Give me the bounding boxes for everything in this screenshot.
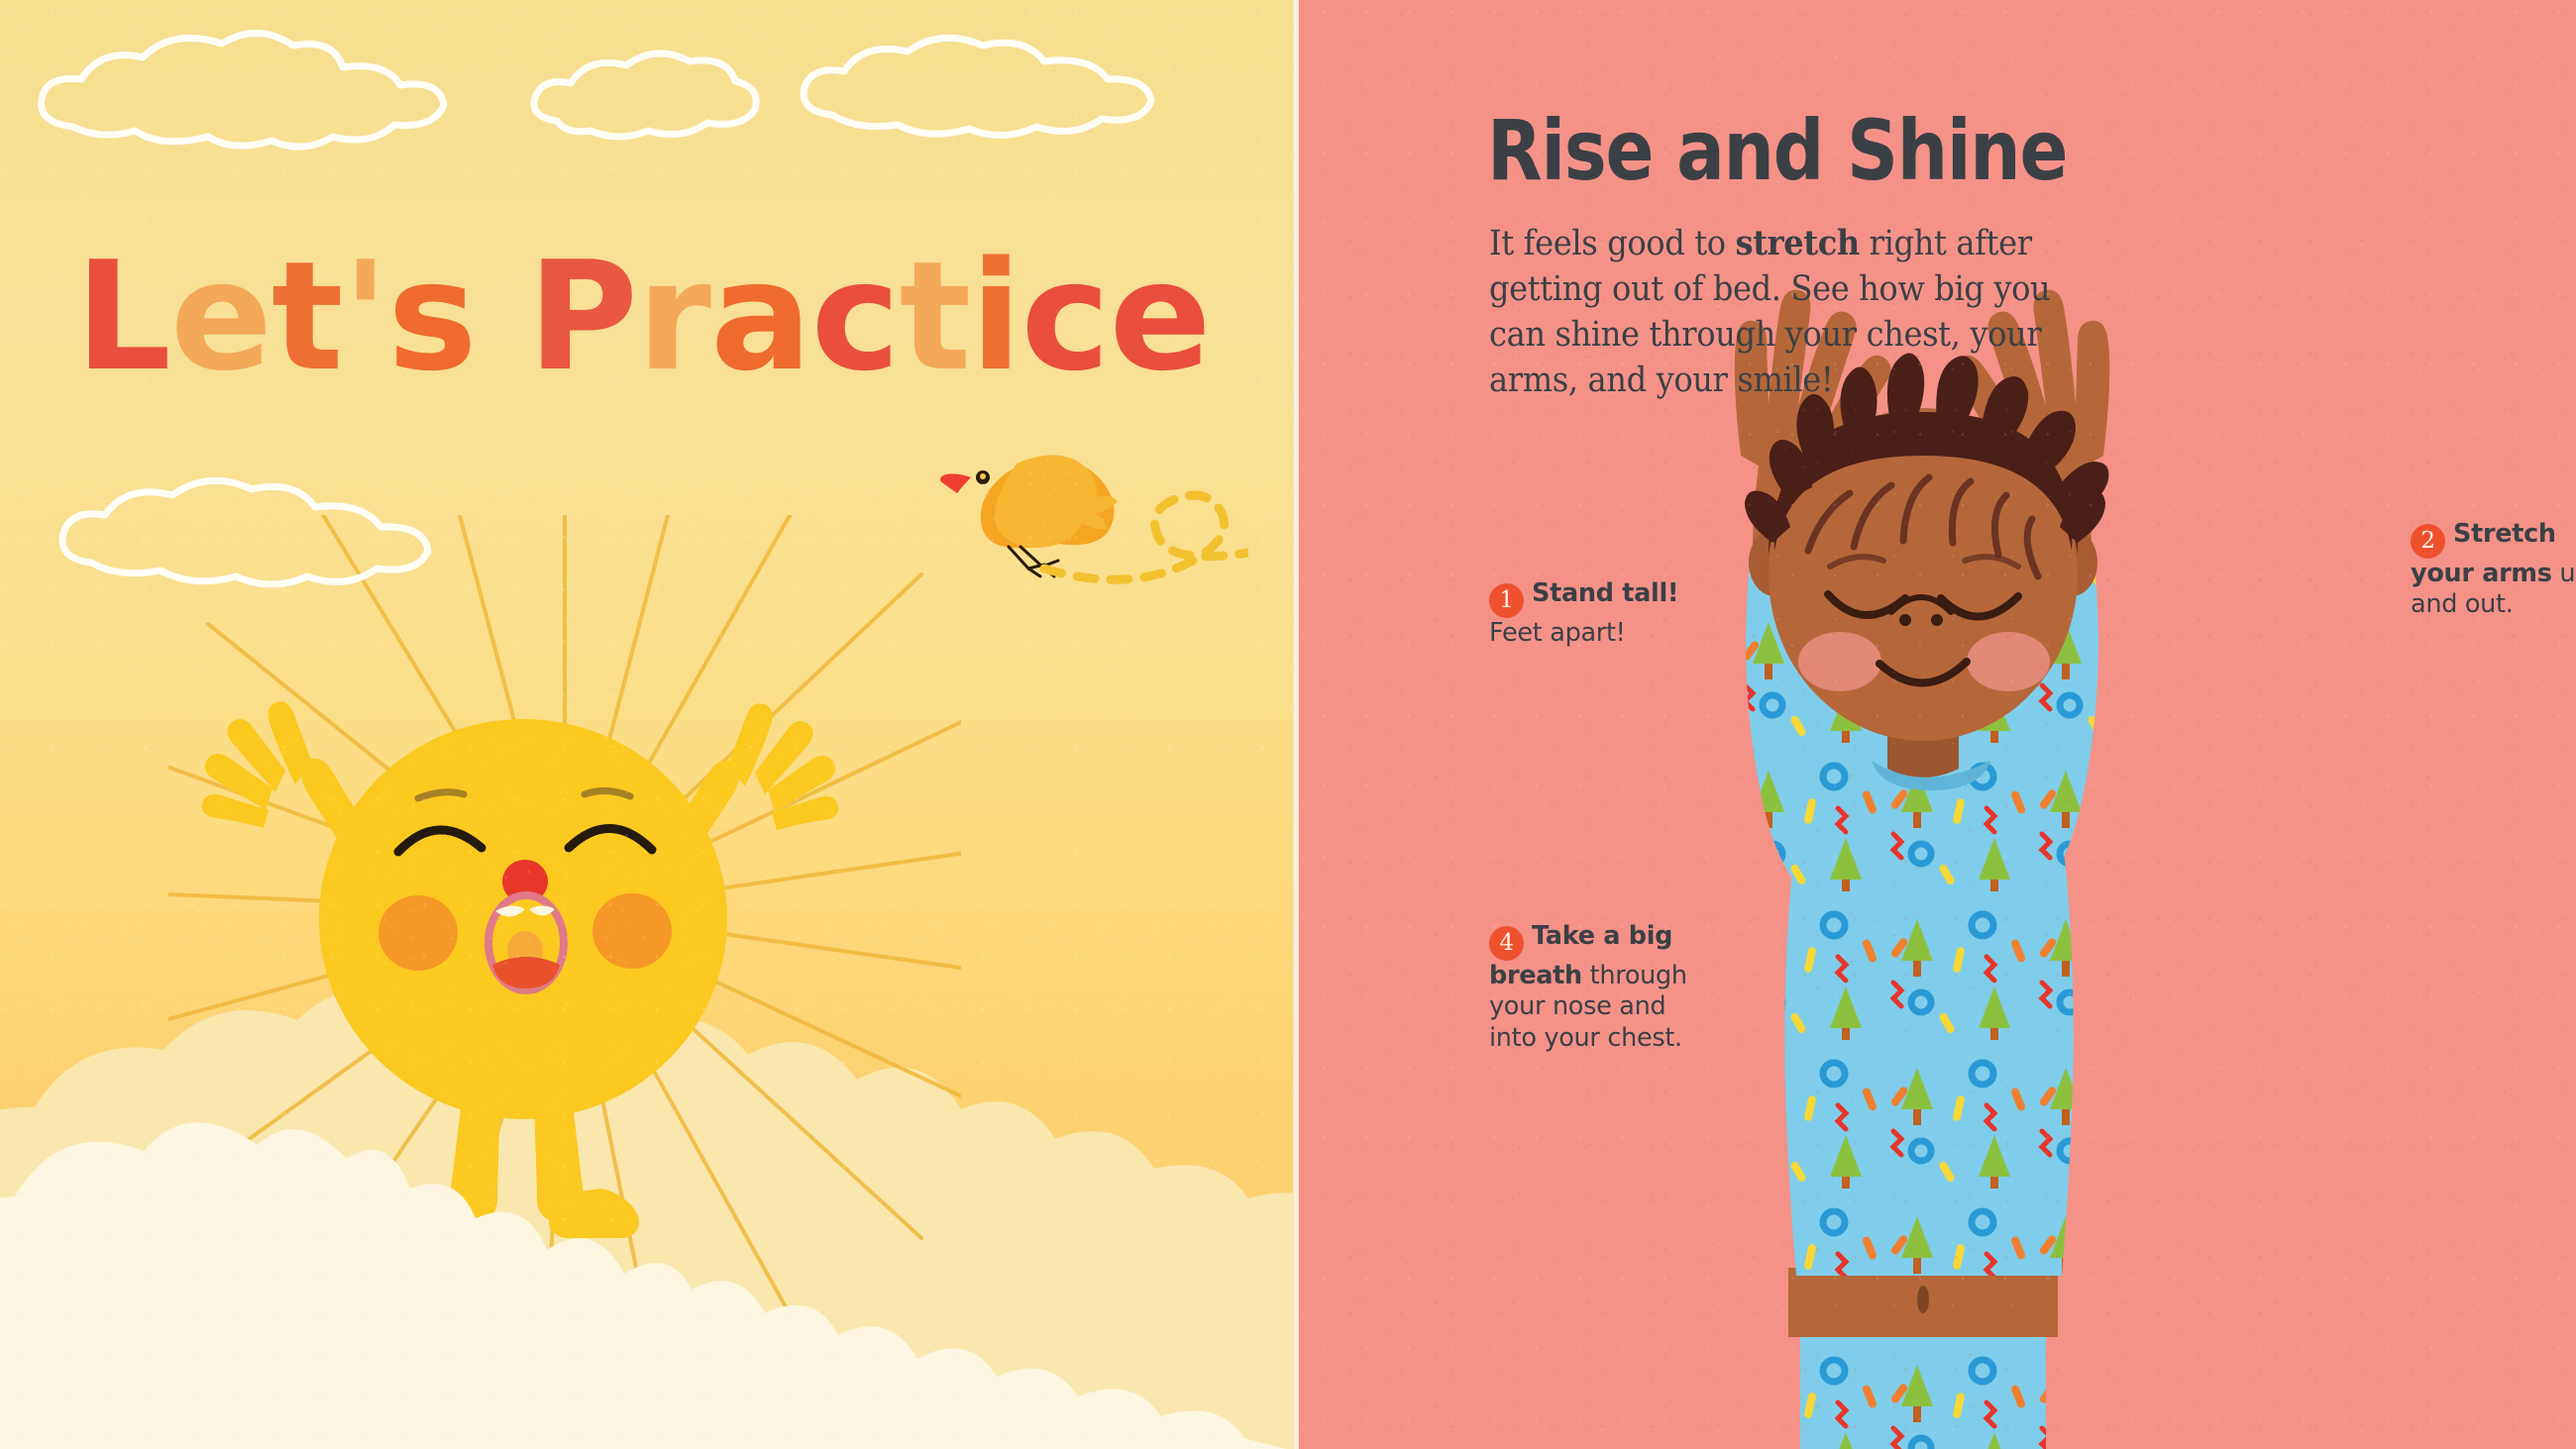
callout-number-badge: 1	[1489, 583, 1524, 618]
flying-bird	[921, 436, 1248, 614]
title-letter: t	[271, 242, 343, 392]
callout-number-badge: 2	[2411, 524, 2445, 559]
title-letter	[477, 242, 528, 392]
title-letter: r	[637, 242, 710, 392]
title-letter: c	[1020, 242, 1109, 392]
body-bold-word: stretch	[1736, 224, 1860, 263]
callout-stretch-arms: 2Stretch your arms up and out.	[2411, 519, 2576, 621]
title-letter: s	[387, 242, 476, 392]
page-title: Rise and Shine	[1487, 102, 2067, 199]
outline-cloud-left-mid	[50, 473, 466, 590]
title-letter: L	[75, 242, 170, 392]
right-page: Rise and Shine It feels good to stretch …	[1293, 0, 2576, 1449]
lets-practice-title: Let's Practice	[75, 242, 1225, 392]
callout-take-breath: 4Take a big breath through your nose and…	[1489, 921, 1697, 1054]
cloud-band-cream-front	[0, 1080, 1293, 1449]
title-letter: t	[900, 242, 971, 392]
callout-bold-text: Stand tall!	[1532, 578, 1678, 608]
callout-number-badge: 4	[1489, 926, 1524, 961]
title-letter: e	[1110, 242, 1211, 392]
book-spread: Let's Practice	[0, 0, 2576, 1449]
left-page: Let's Practice	[0, 0, 1293, 1449]
callout-stand-tall: 1Stand tall! Feet apart!	[1489, 578, 1727, 649]
stretching-child-illustration	[1293, 0, 2576, 1449]
title-letter: i	[970, 242, 1020, 392]
outline-cloud-top-mid	[523, 48, 771, 143]
title-letter: c	[811, 242, 900, 392]
book-spine	[1293, 0, 1299, 1449]
page-body-text: It feels good to stretch right after get…	[1489, 222, 2061, 404]
title-letter: a	[710, 242, 811, 392]
title-letter: P	[528, 242, 637, 392]
title-letter: '	[343, 242, 388, 392]
outline-cloud-top-right	[793, 34, 1179, 141]
title-letter: e	[170, 242, 271, 392]
